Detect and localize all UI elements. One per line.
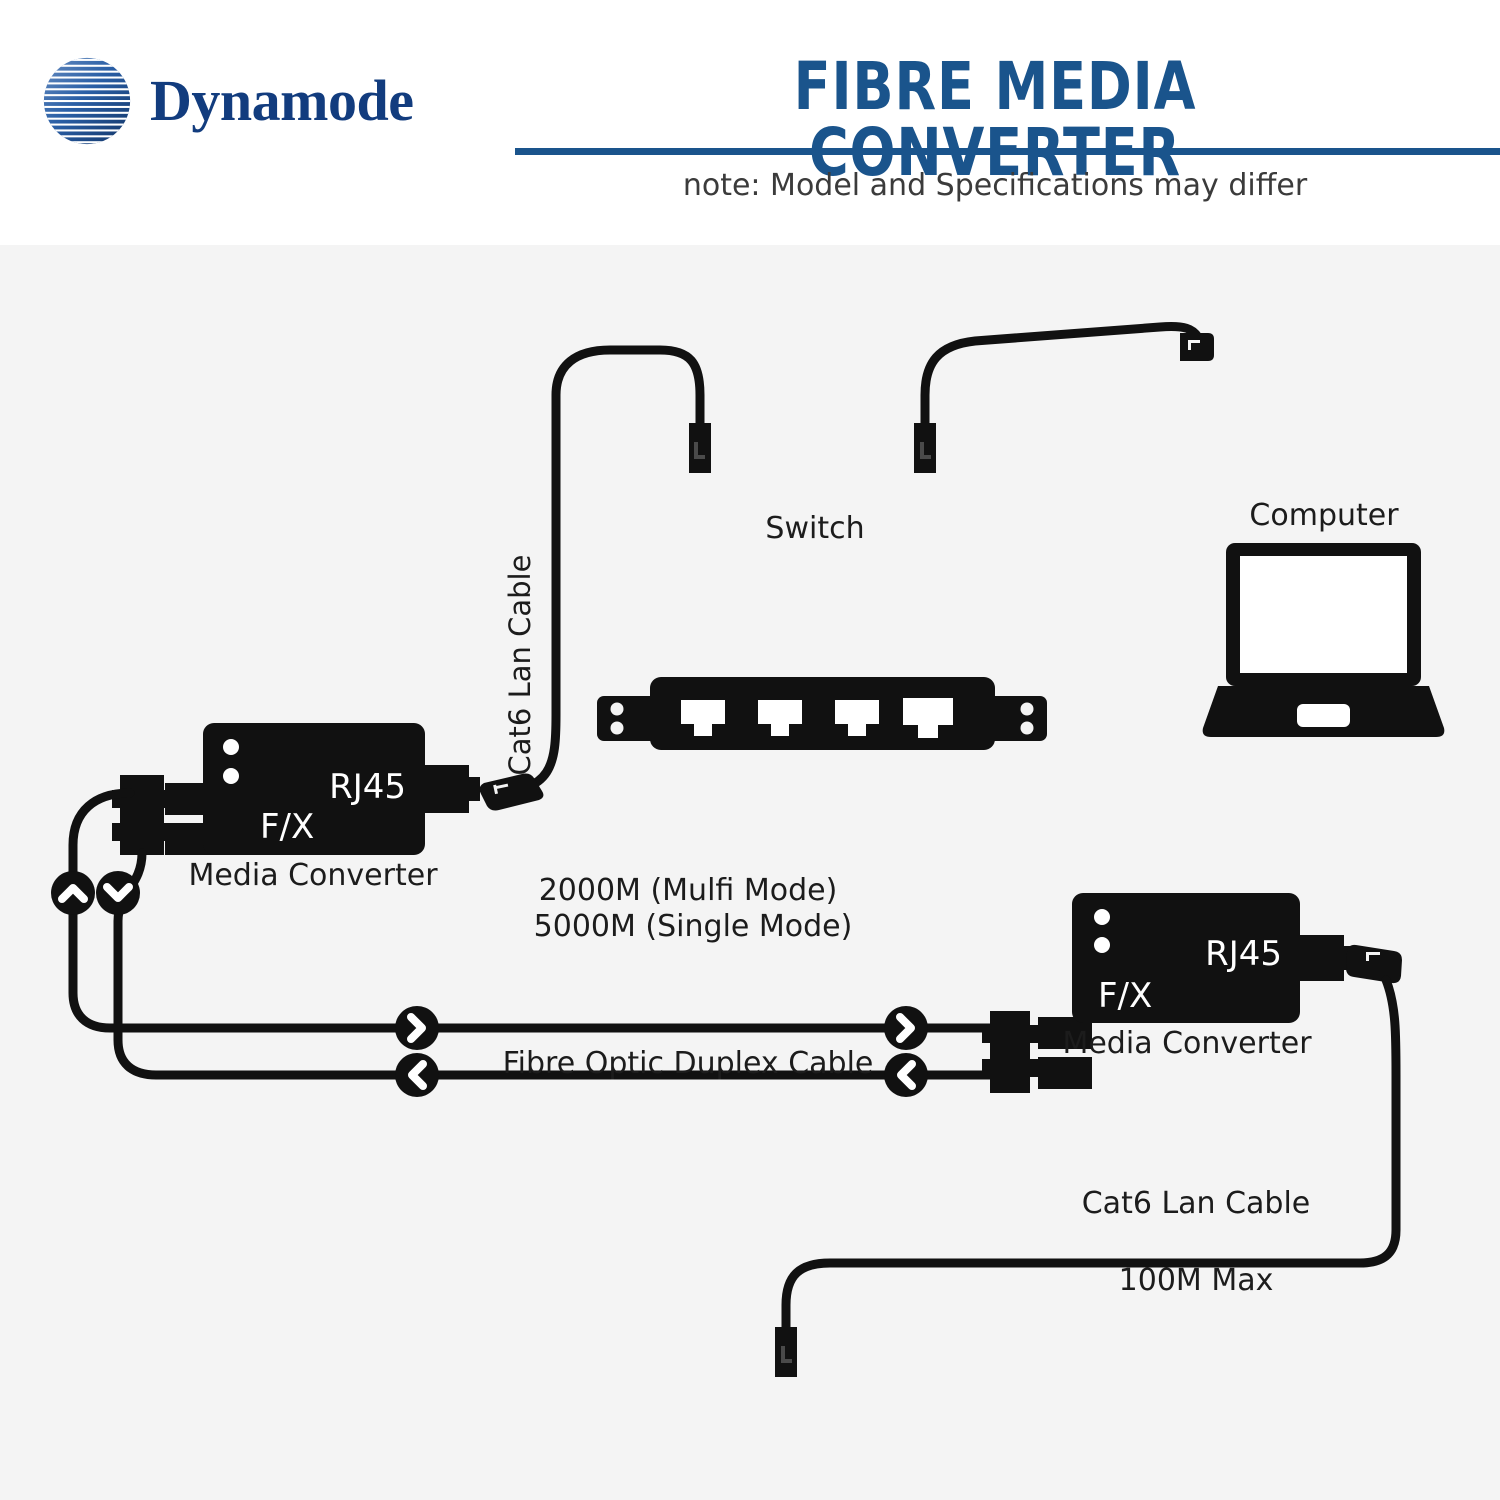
fibre-badge-up — [51, 871, 95, 915]
brand-logo: Dynamode — [38, 52, 413, 150]
converter-left-led-2 — [223, 768, 239, 784]
converter-right-fx-label: F/X — [1098, 976, 1152, 1016]
switch-top-plug-left — [689, 423, 711, 473]
fibre-badge-left-2 — [884, 1053, 928, 1097]
network-diagram: Computer — [0, 245, 1500, 1500]
converter-right-led-1 — [1094, 909, 1110, 925]
striped-sphere-logo-icon — [38, 52, 136, 150]
fibre-distance-multi-label: 2000M (Mulfi Mode) — [539, 873, 838, 908]
switch-bottom-plug — [775, 1327, 797, 1377]
computer-label: Computer — [1249, 498, 1399, 533]
converter-left-rj45-tab — [464, 777, 480, 801]
converter-left-rj45-port — [425, 765, 469, 813]
title-divider — [515, 148, 1500, 155]
cable-switch-to-computer — [925, 326, 1198, 423]
media-converter-right[interactable]: F/X RJ45 — [982, 893, 1402, 1093]
header-bar: Dynamode FIBRE MEDIA CONVERTER note: Mod… — [0, 0, 1500, 245]
converter-left-rj45-plug — [480, 774, 544, 811]
switch-top-plug-right — [914, 423, 936, 473]
converter-right-led-2 — [1094, 937, 1110, 953]
computer-laptop[interactable] — [1180, 333, 1444, 737]
fibre-direction-badges-vertical — [51, 871, 140, 915]
laptop-cable-plug — [1180, 333, 1214, 361]
fibre-badge-left-1 — [395, 1053, 439, 1097]
switch-top-label: Switch — [765, 511, 864, 546]
cable-cat6-bottom-label: Cat6 Lan Cable — [1082, 1186, 1311, 1221]
brand-name: Dynamode — [150, 72, 413, 130]
converter-left-label: Media Converter — [188, 858, 438, 893]
page-title: FIBRE MEDIA CONVERTER — [601, 54, 1388, 186]
laptop-screen — [1240, 556, 1407, 673]
cable-cat6-bottom-max-label: 100M Max — [1119, 1263, 1274, 1298]
converter-right-rj45-port — [1300, 935, 1344, 981]
diagram-page: Dynamode FIBRE MEDIA CONVERTER note: Mod… — [0, 0, 1500, 1500]
media-converter-left[interactable]: F/X RJ45 — [112, 723, 543, 855]
fibre-cable-label: Fibre Optic Duplex Cable — [503, 1046, 874, 1081]
laptop-trackpad — [1297, 704, 1350, 727]
fibre-badge-right-1 — [395, 1006, 439, 1050]
fibre-badge-down — [96, 871, 140, 915]
converter-right-rj45-plug — [1346, 945, 1402, 983]
converter-left-rj45-label: RJ45 — [329, 767, 406, 807]
fibre-badge-right-2 — [884, 1006, 928, 1050]
page-subtitle: note: Model and Specifications may diffe… — [515, 168, 1475, 203]
converter-right-fibre-connector — [982, 1011, 1039, 1093]
converter-left-fx-label: F/X — [260, 807, 314, 847]
cable-cat6-top-label: Cat6 Lan Cable — [503, 555, 537, 776]
switch-bottom[interactable] — [597, 1327, 1047, 1500]
switch-top[interactable] — [597, 423, 1047, 750]
converter-right-fx-stub-2 — [1038, 1057, 1092, 1089]
fibre-distance-single-label: 5000M (Single Mode) — [534, 909, 853, 944]
converter-left-fibre-connector — [112, 775, 174, 855]
converter-left-led-1 — [223, 739, 239, 755]
converter-right-rj45-label: RJ45 — [1205, 934, 1282, 974]
converter-right-label: Media Converter — [1062, 1026, 1312, 1061]
diagram-canvas: Computer — [0, 245, 1500, 1500]
